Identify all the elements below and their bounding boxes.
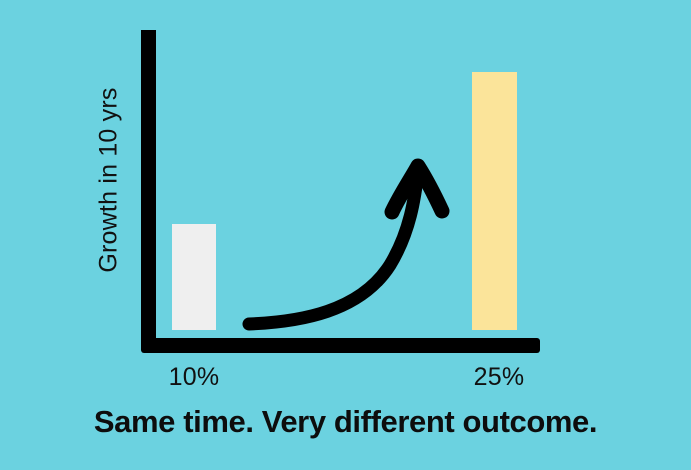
growth-arrow-shaft xyxy=(249,170,418,324)
growth-comparison-chart: Growth in 10 yrs 10% 25% Same time. Very… xyxy=(0,0,691,470)
bar-25-percent xyxy=(472,72,517,330)
y-axis-label: Growth in 10 yrs xyxy=(95,87,123,272)
bar-10-percent xyxy=(172,224,216,330)
y-axis-line xyxy=(141,30,156,353)
infographic-canvas: Growth in 10 yrs 10% 25% Same time. Very… xyxy=(0,0,691,470)
x-tick-label-10-percent: 10% xyxy=(169,363,220,391)
x-tick-label-25-percent: 25% xyxy=(474,363,525,391)
x-axis-line xyxy=(141,338,540,353)
caption-headline: Same time. Very different outcome. xyxy=(94,404,597,439)
